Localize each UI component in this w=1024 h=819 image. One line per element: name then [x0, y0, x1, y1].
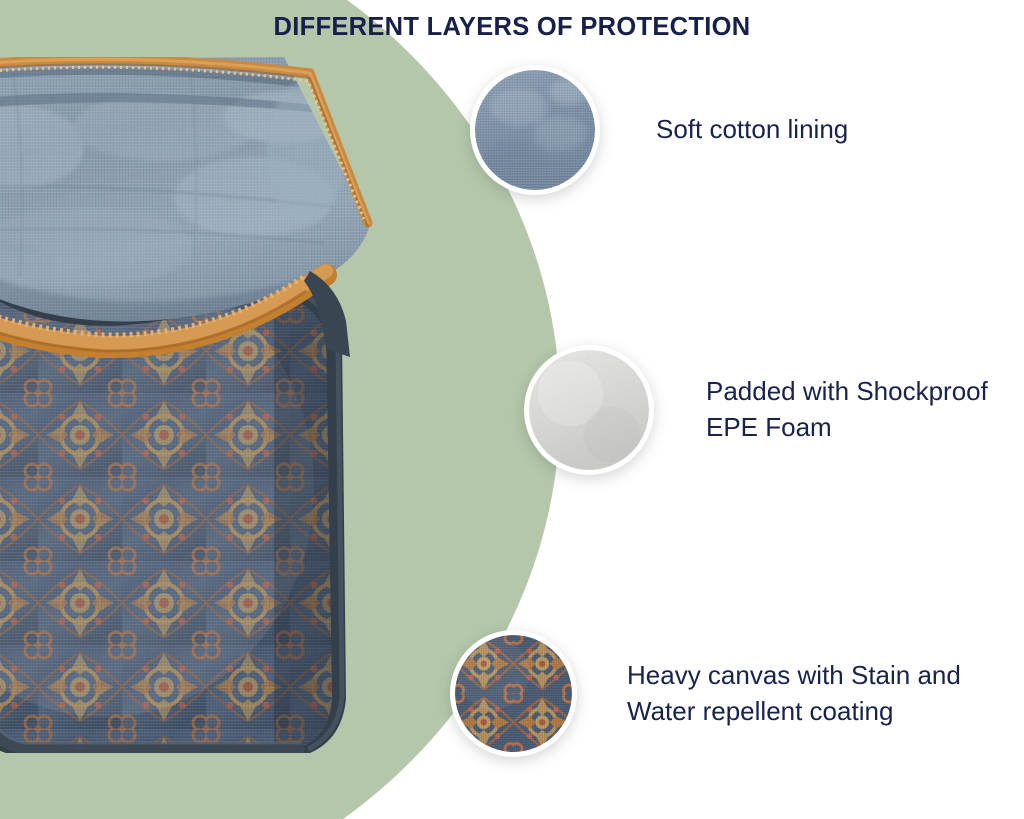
callout-label-soft-cotton-lining: Soft cotton lining: [656, 112, 848, 148]
callout-label-heavy-canvas: Heavy canvas with Stain and Water repell…: [627, 658, 961, 730]
callout-heavy-canvas: Heavy canvas with Stain and Water repell…: [450, 630, 961, 757]
epe-foam-swatch-image: [529, 350, 649, 470]
heavy-canvas-swatch: [450, 630, 577, 757]
callout-soft-cotton-lining: Soft cotton lining: [470, 65, 848, 195]
heavy-canvas-swatch-image: [455, 635, 572, 752]
laptop-sleeve-photo: [0, 57, 420, 753]
cotton-lining-swatch-image: [475, 70, 595, 190]
callout-label-epe-foam: Padded with Shockproof EPE Foam: [706, 374, 988, 446]
page-title: DIFFERENT LAYERS OF PROTECTION: [0, 13, 1024, 42]
epe-foam-swatch: [524, 345, 654, 475]
cotton-lining-swatch: [470, 65, 600, 195]
callout-epe-foam: Padded with Shockproof EPE Foam: [524, 345, 988, 475]
infographic-canvas: DIFFERENT LAYERS OF PROTECTION: [0, 0, 1024, 819]
